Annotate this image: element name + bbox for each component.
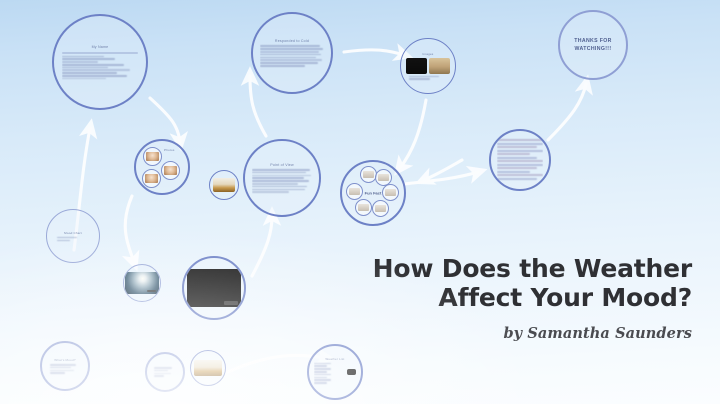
dense-notes-body (497, 137, 543, 182)
video-thumb (125, 272, 158, 294)
responded-body (260, 45, 324, 66)
presentation-title-block: How Does the Weather Affect Your Mood? b… (352, 254, 692, 342)
photo-thumb (194, 360, 221, 376)
thanks-text: THANKS FORWATCHING!!! (574, 37, 612, 53)
title-line-2: Affect Your Mood? (352, 283, 692, 312)
fun-fact-satellite-6[interactable] (346, 183, 363, 200)
photo-cluster-label: Photos (164, 148, 175, 152)
video-controls-bar (224, 301, 238, 304)
point-of-view-body (252, 169, 313, 193)
small-text-body (154, 367, 175, 377)
node-small-text-slide[interactable] (145, 352, 185, 392)
cluster-photo-3[interactable] (142, 169, 161, 188)
node-image-pair-slide[interactable]: Images (400, 38, 456, 94)
image-tile-tan (429, 58, 450, 74)
fun-fact-satellite-3[interactable] (382, 184, 399, 201)
satellite-thumb (349, 188, 360, 196)
node-thanks-for-watching-slide[interactable]: THANKS FORWATCHING!!! (558, 10, 628, 80)
image-pair-title: Images (422, 52, 433, 56)
title-line-1: How Does the Weather (352, 254, 692, 283)
photo-thumb (164, 166, 177, 175)
cluster-photo-1[interactable] (143, 147, 162, 166)
node-photo-cluster-slide[interactable]: Photos (134, 139, 190, 195)
photo-thumb (145, 174, 158, 183)
node-small-photo-slide[interactable] (209, 170, 239, 200)
node-whats-mood-slide[interactable]: What's Mood? (40, 341, 90, 391)
satellite-thumb (378, 174, 389, 182)
whats-mood-title: What's Mood? (54, 358, 75, 362)
fun-fact-hub-label: Fun Fact (365, 191, 382, 196)
weather-list-title: Weather List (325, 357, 344, 361)
weather-list-items (314, 363, 346, 384)
node-my-name-slide[interactable]: My Name (52, 14, 148, 110)
node-responded-to-cold-slide[interactable]: Responded to Cold (251, 12, 333, 94)
prezi-canvas[interactable]: My Name Responded to Cold THANKS FORWATC… (0, 0, 720, 404)
mood-chart-body (57, 237, 89, 241)
fun-fact-satellites: Fun Fact (342, 162, 404, 224)
satellite-thumb (363, 171, 374, 179)
divider (62, 52, 137, 54)
photo-cluster-items: Photos (136, 141, 188, 193)
photo-thumb (146, 152, 159, 161)
node-video-thumbnail-small[interactable] (123, 264, 161, 302)
presentation-byline: by Samantha Saunders (352, 325, 692, 342)
node-dense-notes-slide[interactable] (489, 129, 551, 191)
satellite-thumb (358, 204, 369, 212)
whats-mood-body (50, 364, 79, 374)
cluster-photo-2[interactable] (161, 161, 180, 180)
satellite-thumb (375, 205, 386, 213)
video-controls-bar (147, 290, 156, 292)
responded-title: Responded to Cold (275, 39, 309, 43)
node-fun-fact-hub[interactable]: Fun Fact (340, 160, 406, 226)
fun-fact-satellite-5[interactable] (355, 199, 372, 216)
node-point-of-view-slide[interactable]: Point of View (243, 139, 321, 217)
node-mood-chart-slide[interactable]: Mood Chart (46, 209, 100, 263)
mood-chart-title: Mood Chart (64, 231, 82, 235)
point-of-view-title: Point of View (270, 163, 294, 167)
video-thumb (187, 269, 241, 306)
my-name-title: My Name (92, 45, 109, 49)
node-video-thumbnail-large[interactable] (182, 256, 246, 320)
image-pair-caption (409, 76, 447, 80)
satellite-thumb (385, 189, 396, 197)
photo-thumb (213, 178, 234, 193)
fun-fact-satellite-4[interactable] (372, 200, 389, 217)
image-tile-dark (406, 58, 427, 74)
my-name-body (62, 56, 137, 80)
list-thumb (347, 369, 356, 375)
node-food-photo-slide[interactable] (190, 350, 226, 386)
node-weather-list-slide[interactable]: Weather List (307, 344, 363, 400)
